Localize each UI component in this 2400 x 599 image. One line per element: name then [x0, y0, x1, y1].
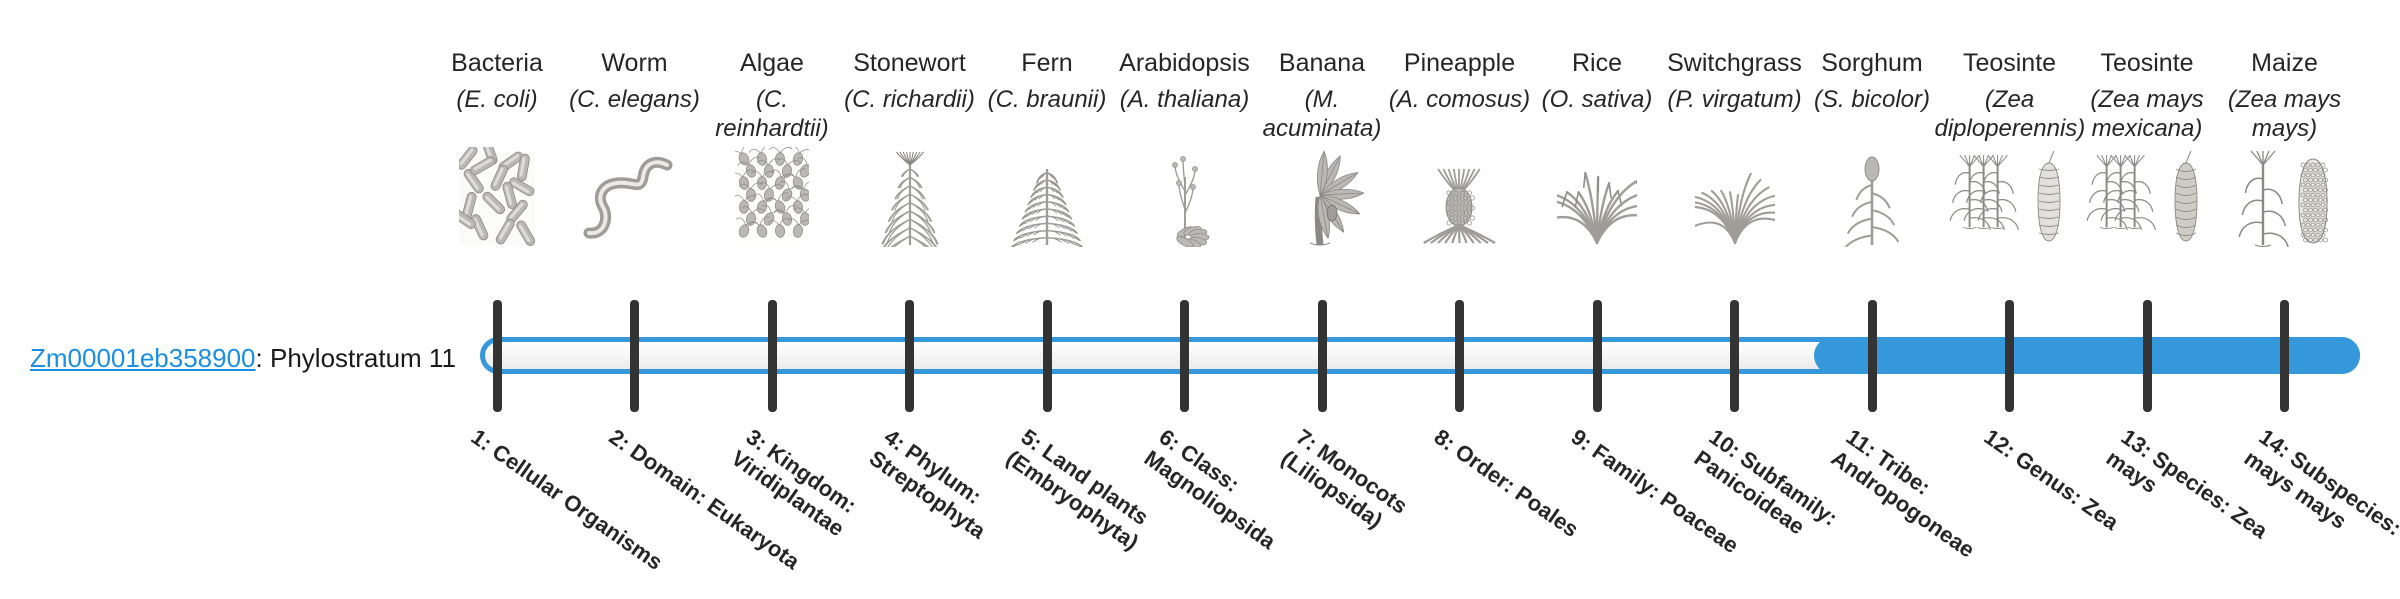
species-column-arabidopsis-6: Arabidopsis(A. thaliana) — [1110, 48, 1260, 247]
timeline-tick-6[interactable] — [1180, 300, 1189, 412]
phylostratum-timeline-bar[interactable] — [480, 337, 2360, 374]
gene-label-separator: : — [256, 343, 270, 373]
worm-icon — [560, 147, 710, 247]
species-common-name: Rice — [1522, 48, 1672, 78]
timeline-tick-9[interactable] — [1593, 300, 1602, 412]
rice-icon — [1522, 147, 1672, 247]
timeline-tick-8[interactable] — [1455, 300, 1464, 412]
timeline-tick-7[interactable] — [1318, 300, 1327, 412]
species-column-sorghum-11: Sorghum(S. bicolor) — [1797, 48, 1947, 247]
timeline-tick-14[interactable] — [2280, 300, 2289, 412]
sorghum-icon — [1797, 147, 1947, 247]
species-column-pineapple-8: Pineapple(A. comosus) — [1385, 48, 1535, 247]
species-scientific-name: (P. virgatum) — [1660, 85, 1810, 143]
species-scientific-name: (C. richardii) — [835, 85, 985, 143]
teosinte-mex-icon — [2072, 147, 2222, 247]
timeline-tick-13[interactable] — [2143, 300, 2152, 412]
fern-icon — [972, 147, 1122, 247]
species-scientific-name: (S. bicolor) — [1797, 85, 1947, 143]
species-common-name: Pineapple — [1385, 48, 1535, 78]
species-scientific-name: (A. comosus) — [1385, 85, 1535, 143]
species-column-bacteria-1: Bacteria(E. coli) — [422, 48, 572, 247]
gene-phylostratum-label: Zm00001eb358900: Phylostratum 11 — [30, 342, 456, 374]
switchgrass-icon — [1660, 147, 1810, 247]
species-scientific-name: (M. acuminata) — [1247, 85, 1397, 143]
timeline-tick-12[interactable] — [2005, 300, 2014, 412]
species-scientific-name: (Zea diploperennis) — [1935, 85, 2085, 143]
stratum-number: 12: — [1979, 424, 2019, 463]
pineapple-icon — [1385, 147, 1535, 247]
species-column-switchgrass-10: Switchgrass(P. virgatum) — [1660, 48, 1810, 247]
species-common-name: Algae — [697, 48, 847, 78]
species-column-teosinte-13: Teosinte(Zea mays mexicana) — [2072, 48, 2222, 247]
maize-icon — [2210, 147, 2360, 247]
species-column-algae-3: Algae(C. reinhardtii) — [697, 48, 847, 247]
stonewort-icon — [835, 147, 985, 247]
species-column-rice-9: Rice(O. sativa) — [1522, 48, 1672, 247]
species-scientific-name: (C. braunii) — [972, 85, 1122, 143]
species-common-name: Switchgrass — [1660, 48, 1810, 78]
species-common-name: Worm — [560, 48, 710, 78]
arabidopsis-icon — [1110, 147, 1260, 247]
species-scientific-name: (A. thaliana) — [1110, 85, 1260, 143]
species-column-worm-2: Worm(C. elegans) — [560, 48, 710, 247]
timeline-tick-1[interactable] — [493, 300, 502, 412]
banana-icon — [1247, 147, 1397, 247]
species-common-name: Banana — [1247, 48, 1397, 78]
species-common-name: Teosinte — [1935, 48, 2085, 78]
timeline-tick-5[interactable] — [1043, 300, 1052, 412]
species-scientific-name: (Zea mays mexicana) — [2072, 85, 2222, 143]
species-column-banana-7: Banana(M. acuminata) — [1247, 48, 1397, 247]
bacteria-icon — [422, 147, 572, 247]
species-common-name: Maize — [2210, 48, 2360, 78]
species-column-maize-14: Maize(Zea mays mays) — [2210, 48, 2360, 247]
teosinte-diplo-icon — [1935, 147, 2085, 247]
species-column-teosinte-12: Teosinte(Zea diploperennis) — [1935, 48, 2085, 247]
stratum-rank: Order: Poales — [1450, 439, 1583, 542]
species-column-fern-5: Fern(C. braunii) — [972, 48, 1122, 247]
species-common-name: Stonewort — [835, 48, 985, 78]
phylostratum-value-text: Phylostratum 11 — [270, 343, 456, 373]
species-scientific-name: (C. elegans) — [560, 85, 710, 143]
timeline-tick-2[interactable] — [630, 300, 639, 412]
timeline-tick-3[interactable] — [768, 300, 777, 412]
species-common-name: Teosinte — [2072, 48, 2222, 78]
timeline-tick-10[interactable] — [1730, 300, 1739, 412]
species-common-name: Arabidopsis — [1110, 48, 1260, 78]
phylostratigraphy-figure: Zm00001eb358900: Phylostratum 11 Bacteri… — [0, 0, 2400, 580]
species-common-name: Sorghum — [1797, 48, 1947, 78]
timeline-tick-4[interactable] — [905, 300, 914, 412]
algae-icon — [697, 147, 847, 247]
timeline-fill — [1814, 337, 2360, 374]
species-common-name: Fern — [972, 48, 1122, 78]
species-common-name: Bacteria — [422, 48, 572, 78]
species-scientific-name: (O. sativa) — [1522, 85, 1672, 143]
species-column-stonewort-4: Stonewort(C. richardii) — [835, 48, 985, 247]
species-scientific-name: (Zea mays mays) — [2210, 85, 2360, 143]
species-scientific-name: (E. coli) — [422, 85, 572, 143]
timeline-tick-11[interactable] — [1868, 300, 1877, 412]
gene-id-link[interactable]: Zm00001eb358900 — [30, 343, 256, 373]
species-scientific-name: (C. reinhardtii) — [697, 85, 847, 143]
